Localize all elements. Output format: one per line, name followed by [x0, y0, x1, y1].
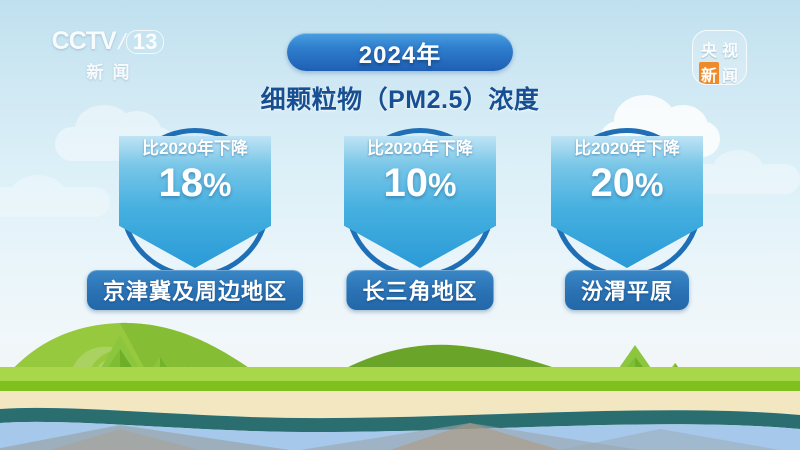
- stat-number-2: 10: [384, 161, 429, 205]
- region-pill-3[interactable]: 汾渭平原: [565, 270, 689, 310]
- region-label-1: 京津冀及周边地区: [103, 274, 287, 306]
- stat-caption-1: 比2020年下降: [95, 136, 295, 162]
- stat-value-1: 18%: [95, 162, 295, 206]
- grass-band-upper: [0, 367, 800, 381]
- stat-percent-3: %: [635, 167, 663, 203]
- cctv-wordmark: CCTV: [52, 27, 116, 56]
- app-badge-char-2: 视: [720, 37, 740, 61]
- cctv13-channel-logo: CCTV / 13 新闻: [48, 27, 168, 85]
- region-label-3: 汾渭平原: [581, 274, 673, 306]
- region-label-2: 长三角地区: [362, 274, 477, 306]
- stat-text-2: 比2020年下降 10%: [320, 136, 520, 206]
- grass-band-lower: [0, 381, 800, 391]
- stat-value-3: 20%: [527, 162, 727, 206]
- stat-value-2: 10%: [320, 162, 520, 206]
- stat-text-3: 比2020年下降 20%: [527, 136, 727, 206]
- broadcast-graphic-stage: CCTV / 13 新闻 央 视 新 闻 2024年 细颗粒物（PM2.5）浓度…: [0, 0, 800, 450]
- region-pill-2[interactable]: 长三角地区: [346, 270, 493, 310]
- stat-number-1: 18: [159, 161, 204, 205]
- year-banner: 2024年: [287, 33, 513, 71]
- stat-caption-2: 比2020年下降: [320, 136, 520, 162]
- stat-text-1: 比2020年下降 18%: [95, 136, 295, 206]
- page-title: 细颗粒物（PM2.5）浓度: [0, 80, 800, 116]
- stat-percent-1: %: [203, 167, 231, 203]
- cctv-news-app-badge: 央 视 新 闻: [692, 30, 747, 85]
- cctv-channel-number: 13: [126, 30, 164, 54]
- year-banner-label: 2024年: [359, 35, 441, 70]
- stat-number-3: 20: [591, 161, 636, 205]
- stat-caption-3: 比2020年下降: [527, 136, 727, 162]
- app-badge-char-1: 央: [699, 37, 719, 61]
- stat-percent-2: %: [428, 167, 456, 203]
- region-pill-1[interactable]: 京津冀及周边地区: [87, 270, 303, 310]
- landscape-illustration: [0, 305, 800, 450]
